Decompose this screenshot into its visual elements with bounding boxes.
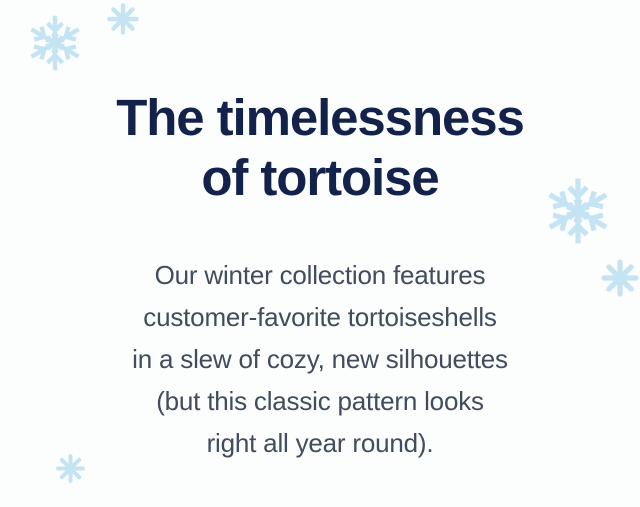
subcopy-line: right all year round). xyxy=(40,422,600,464)
headline-line: The timelessness xyxy=(60,88,580,148)
page-title: The timelessness of tortoise xyxy=(60,88,580,208)
headline-line: of tortoise xyxy=(60,148,580,208)
winter-promo-banner: The timelessness of tortoise Our winter … xyxy=(0,0,640,507)
subcopy-line: (but this classic pattern looks xyxy=(40,380,600,422)
subcopy-line: in a slew of cozy, new silhouettes xyxy=(40,338,600,380)
banner-content: The timelessness of tortoise Our winter … xyxy=(0,0,640,507)
subcopy-line: customer-favorite tortoiseshells xyxy=(40,296,600,338)
banner-subcopy: Our winter collection features customer-… xyxy=(40,254,600,464)
subcopy-line: Our winter collection features xyxy=(40,254,600,296)
